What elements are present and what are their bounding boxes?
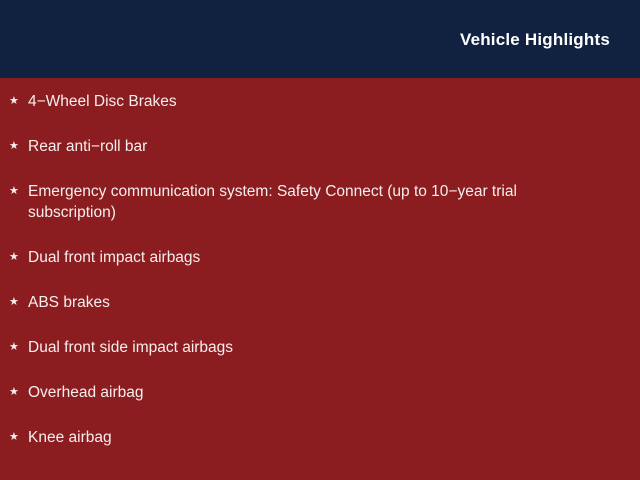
slide-header: Vehicle Highlights: [0, 0, 640, 78]
vehicle-highlights-slide: Vehicle Highlights ★ 4−Wheel Disc Brakes…: [0, 0, 640, 480]
list-item: ★ Dual front impact airbags: [9, 247, 610, 268]
star-icon: ★: [9, 247, 28, 268]
feature-label: Dual front side impact airbags: [28, 337, 594, 358]
list-item: ★ 4−Wheel Disc Brakes: [9, 91, 610, 112]
list-item: ★ Overhead airbag: [9, 382, 610, 403]
list-item: ★ ABS brakes: [9, 292, 610, 313]
page-title: Vehicle Highlights: [460, 31, 610, 48]
feature-label: Dual front impact airbags: [28, 247, 594, 268]
list-item: ★ Knee airbag: [9, 427, 610, 448]
list-item: ★ Rear anti−roll bar: [9, 136, 610, 157]
feature-label: 4−Wheel Disc Brakes: [28, 91, 594, 112]
star-icon: ★: [9, 91, 28, 112]
feature-label: ABS brakes: [28, 292, 594, 313]
feature-label: Knee airbag: [28, 427, 594, 448]
star-icon: ★: [9, 292, 28, 313]
star-icon: ★: [9, 427, 28, 448]
feature-label: Overhead airbag: [28, 382, 594, 403]
feature-label: Emergency communication system: Safety C…: [28, 181, 594, 223]
feature-label: Rear anti−roll bar: [28, 136, 594, 157]
star-icon: ★: [9, 382, 28, 403]
star-icon: ★: [9, 136, 28, 157]
star-icon: ★: [9, 337, 28, 358]
star-icon: ★: [9, 181, 28, 202]
list-item: ★ Emergency communication system: Safety…: [9, 181, 610, 223]
list-item: ★ Dual front side impact airbags: [9, 337, 610, 358]
slide-content: ★ 4−Wheel Disc Brakes ★ Rear anti−roll b…: [0, 78, 640, 480]
vehicle-feature-list: ★ 4−Wheel Disc Brakes ★ Rear anti−roll b…: [9, 91, 610, 448]
